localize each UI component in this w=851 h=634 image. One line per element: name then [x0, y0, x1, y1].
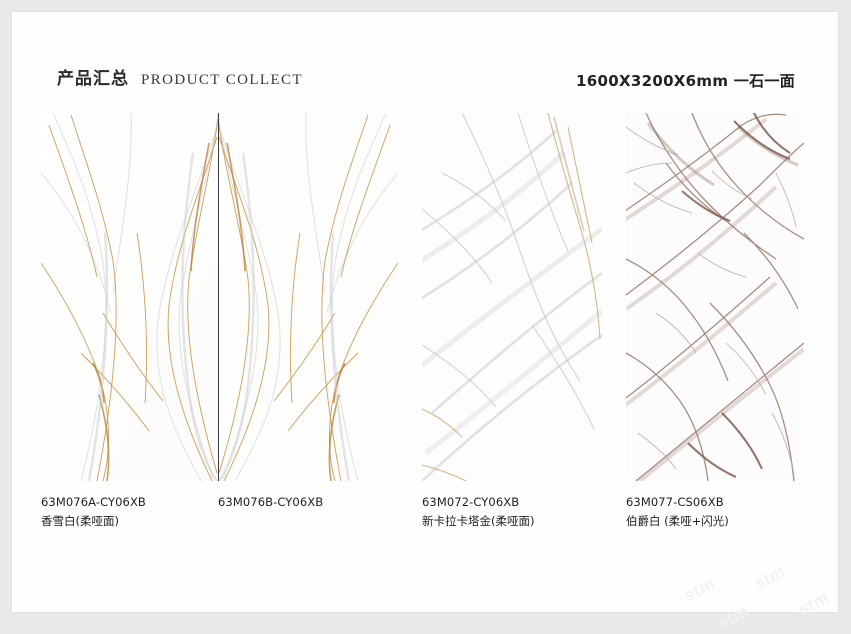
slab-image-63m077 [626, 113, 804, 481]
slab-image-63m072 [422, 113, 602, 481]
catalog-page: 产品汇总 PRODUCT COLLECT 1600X3200X6mm 一石一面 [12, 12, 838, 612]
slab-code: 63M072-CY06XB [422, 493, 534, 512]
slab-caption-63m077: 63M077-CS06XB 伯爵白 (柔哑+闪光) [626, 493, 729, 531]
slab-image-63m076a [41, 113, 218, 481]
slab-code: 63M076A-CY06XB [41, 493, 146, 512]
page-title-cn: 产品汇总 [57, 64, 129, 89]
slab-caption-63m076a: 63M076A-CY06XB 香雪白(柔哑面) [41, 493, 146, 531]
bookmatch-seam-line [218, 113, 219, 481]
page-title-en: PRODUCT COLLECT [141, 72, 303, 89]
page-title: 产品汇总 PRODUCT COLLECT [57, 64, 303, 89]
watermark-text: stm [795, 588, 832, 621]
slab-name: 香雪白(柔哑面) [41, 512, 146, 531]
watermark-text: stm [751, 562, 788, 595]
slab-name: 新卡拉卡塔金(柔哑面) [422, 512, 534, 531]
product-spec-label: 1600X3200X6mm 一石一面 [576, 70, 795, 91]
slab-code: 63M077-CS06XB [626, 493, 729, 512]
slab-code: 63M076B-CY06XB [218, 493, 323, 512]
slab-caption-63m076b: 63M076B-CY06XB [218, 493, 323, 512]
slab-caption-63m072: 63M072-CY06XB 新卡拉卡塔金(柔哑面) [422, 493, 534, 531]
slab-image-63m076b [218, 113, 398, 481]
watermark-text: stm [681, 574, 718, 607]
page-header: 产品汇总 PRODUCT COLLECT 1600X3200X6mm 一石一面 [12, 12, 838, 112]
watermark-text: stm [715, 602, 752, 634]
slab-name: 伯爵白 (柔哑+闪光) [626, 512, 729, 531]
